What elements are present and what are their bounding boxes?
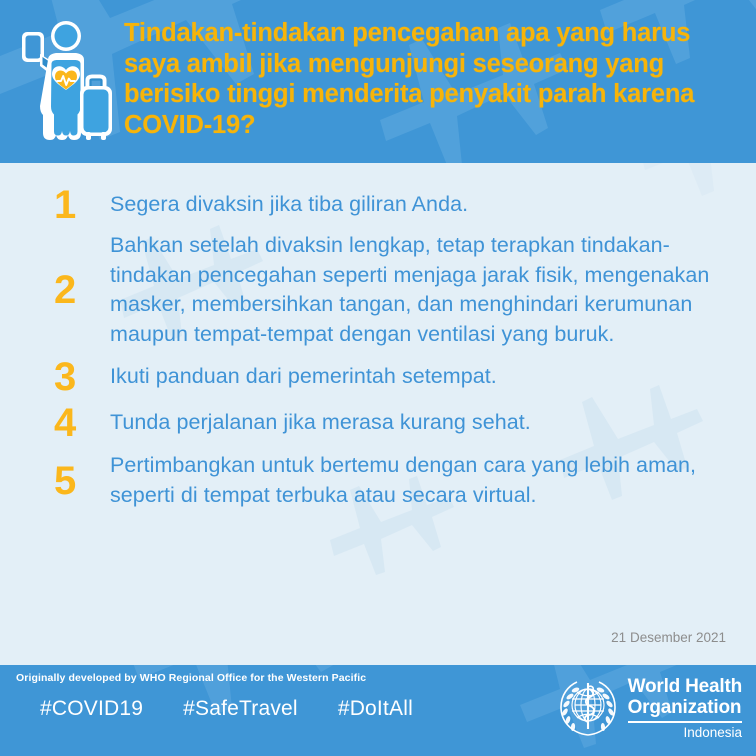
list-item: 2 Bahkan setelah divaksin lengkap, tetap… <box>48 231 726 349</box>
who-wordmark: World Health Organization Indonesia <box>628 677 742 740</box>
list-item: 3 Ikuti panduan dari pemerintah setempat… <box>48 357 726 397</box>
who-country-label: Indonesia <box>628 725 742 740</box>
list-item: 5 Pertimbangkan untuk bertemu dengan car… <box>48 451 726 510</box>
infographic-poster: Tindakan-tindakan pencegahan apa yang ha… <box>0 0 756 756</box>
logo-divider <box>628 721 742 723</box>
list-item-number: 1 <box>48 185 110 225</box>
list-item-text: Tunda perjalanan jika merasa kurang seha… <box>110 408 726 438</box>
hashtag-covid19[interactable]: #COVID19 <box>40 697 143 721</box>
attribution-text: Originally developed by WHO Regional Off… <box>16 672 366 684</box>
list-item-text: Bahkan setelah divaksin lengkap, tetap t… <box>110 231 726 349</box>
traveler-with-suitcase-icon <box>14 14 118 154</box>
footer-band: Originally developed by WHO Regional Off… <box>0 665 756 756</box>
list-item-number: 3 <box>48 357 110 397</box>
list-item-number: 4 <box>48 403 110 443</box>
hashtag-safetravel[interactable]: #SafeTravel <box>183 697 298 721</box>
list-item: 4 Tunda perjalanan jika merasa kurang se… <box>48 403 726 443</box>
recommendation-list: 1 Segera divaksin jika tiba giliran Anda… <box>0 163 756 665</box>
who-name-line1: World Health <box>628 676 742 697</box>
who-emblem-icon <box>557 677 619 739</box>
hashtag-group: #COVID19 #SafeTravel #DoItAll <box>40 697 413 721</box>
publication-date: 21 Desember 2021 <box>611 630 726 645</box>
list-item-text: Segera divaksin jika tiba giliran Anda. <box>110 190 726 220</box>
who-logo-lockup: World Health Organization Indonesia <box>557 677 742 740</box>
header-band: Tindakan-tindakan pencegahan apa yang ha… <box>0 0 756 163</box>
list-item-text: Ikuti panduan dari pemerintah setempat. <box>110 362 726 392</box>
who-name-line2: Organization <box>628 697 742 718</box>
list-item-number: 2 <box>48 270 110 310</box>
page-title: Tindakan-tindakan pencegahan apa yang ha… <box>118 10 738 140</box>
hashtag-doitall[interactable]: #DoItAll <box>338 697 413 721</box>
list-item-number: 5 <box>48 461 110 501</box>
list-item: 1 Segera divaksin jika tiba giliran Anda… <box>48 185 726 225</box>
list-item-text: Pertimbangkan untuk bertemu dengan cara … <box>110 451 726 510</box>
